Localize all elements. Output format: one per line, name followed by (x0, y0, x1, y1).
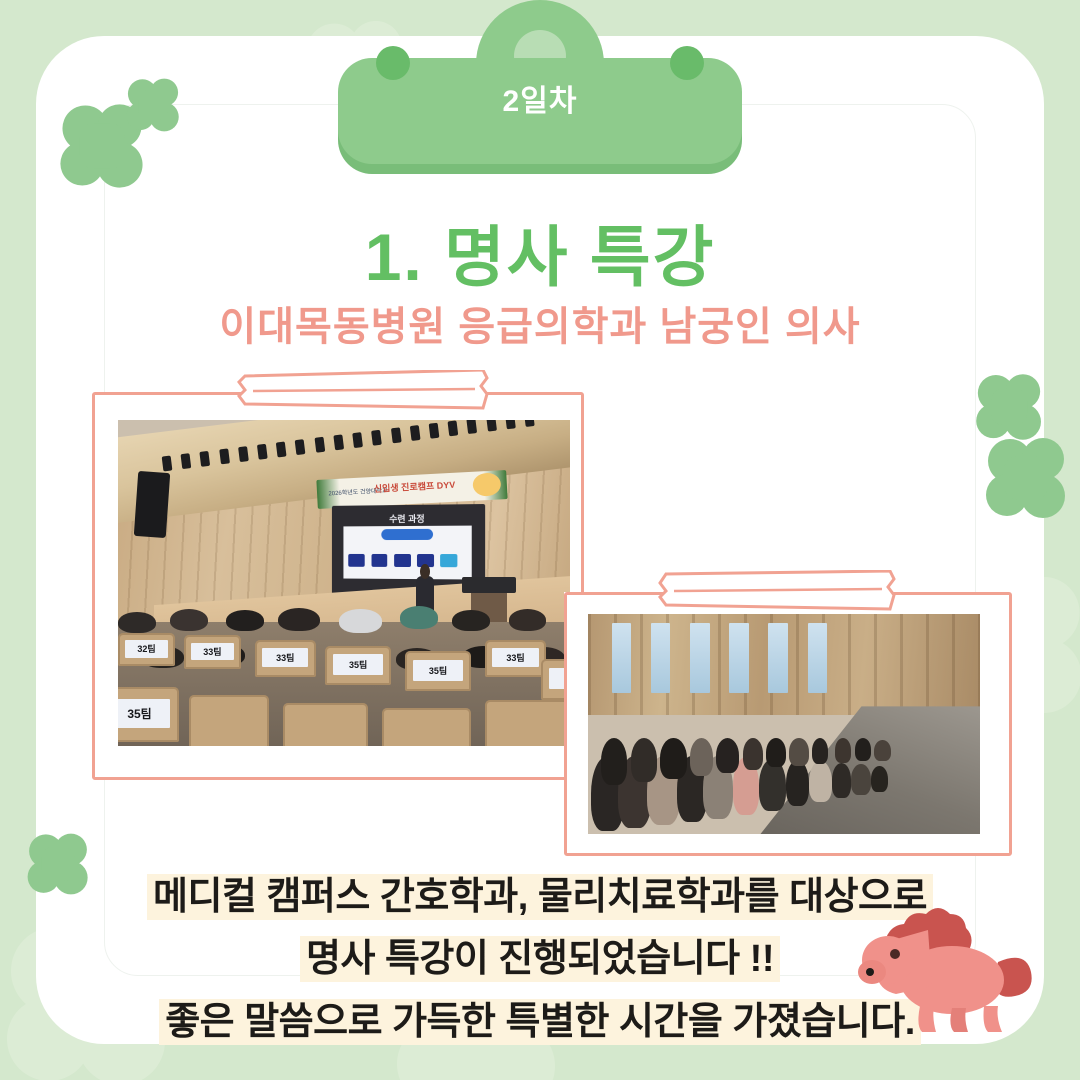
audience-seating: 32팀 33팀 33팀 35팀 35팀 33팀 (118, 622, 570, 746)
seat: 35팀 (118, 687, 179, 742)
content-card: 2일차 1. 명사 특강 이대목동병원 응급의학과 남궁인 의사 (36, 36, 1044, 1044)
seat: 32팀 (118, 633, 174, 667)
seat-sign: 35팀 (118, 699, 170, 727)
seat (189, 695, 269, 746)
body-line-text: 좋은 말씀으로 가득한 특별한 시간을 가졌습니다. (159, 999, 921, 1045)
washi-tape-icon (658, 570, 898, 614)
tab-dot-right (670, 46, 704, 80)
seat: 33팀 (184, 635, 240, 669)
seat-sign: 33팀 (191, 643, 234, 661)
photo-audience-side (588, 614, 980, 834)
tab-dot-left (376, 46, 410, 80)
body-line-text: 명사 특강이 진행되었습니다 !! (300, 936, 780, 982)
page-subtitle: 이대목동병원 응급의학과 남궁인 의사 (36, 294, 1044, 352)
seat (382, 708, 471, 746)
seat-sign: 33팀 (492, 648, 538, 667)
seat (283, 703, 368, 746)
seat: 35팀 (405, 651, 471, 691)
seat-sign: 35팀 (333, 654, 383, 674)
seat-sign: 33팀 (262, 648, 308, 667)
photo-frame-secondary (564, 592, 1012, 856)
tab-label: 2일차 (330, 76, 750, 120)
seat-sign: 32팀 (125, 640, 168, 658)
seat-sign: 35팀 (413, 660, 463, 681)
day-tab: 2일차 (330, 0, 750, 180)
banner-main: 신입생 진로캠프 DYV (373, 478, 455, 495)
pony-icon (848, 902, 1038, 1034)
photo-auditorium-stage: 2026학년도 건양대학교 신입생 진로캠프 DYV 수련 과정 (118, 420, 570, 746)
body-line-text: 메디컬 캠퍼스 간호학과, 물리치료학과를 대상으로 (147, 874, 933, 920)
photo-frame-main: 2026학년도 건양대학교 신입생 진로캠프 DYV 수련 과정 (92, 392, 584, 780)
clover-icon (120, 72, 186, 143)
seat: 33팀 (255, 640, 316, 677)
clover-icon (976, 428, 1076, 533)
washi-tape-icon (237, 370, 491, 414)
seat (485, 700, 570, 746)
slide-title: 수련 과정 (332, 511, 485, 525)
seat: 33팀 (485, 640, 546, 677)
seat: 35팀 (325, 646, 391, 685)
banner-mascot-icon (472, 473, 502, 498)
page-title: 1. 명사 특강 (36, 204, 1044, 300)
